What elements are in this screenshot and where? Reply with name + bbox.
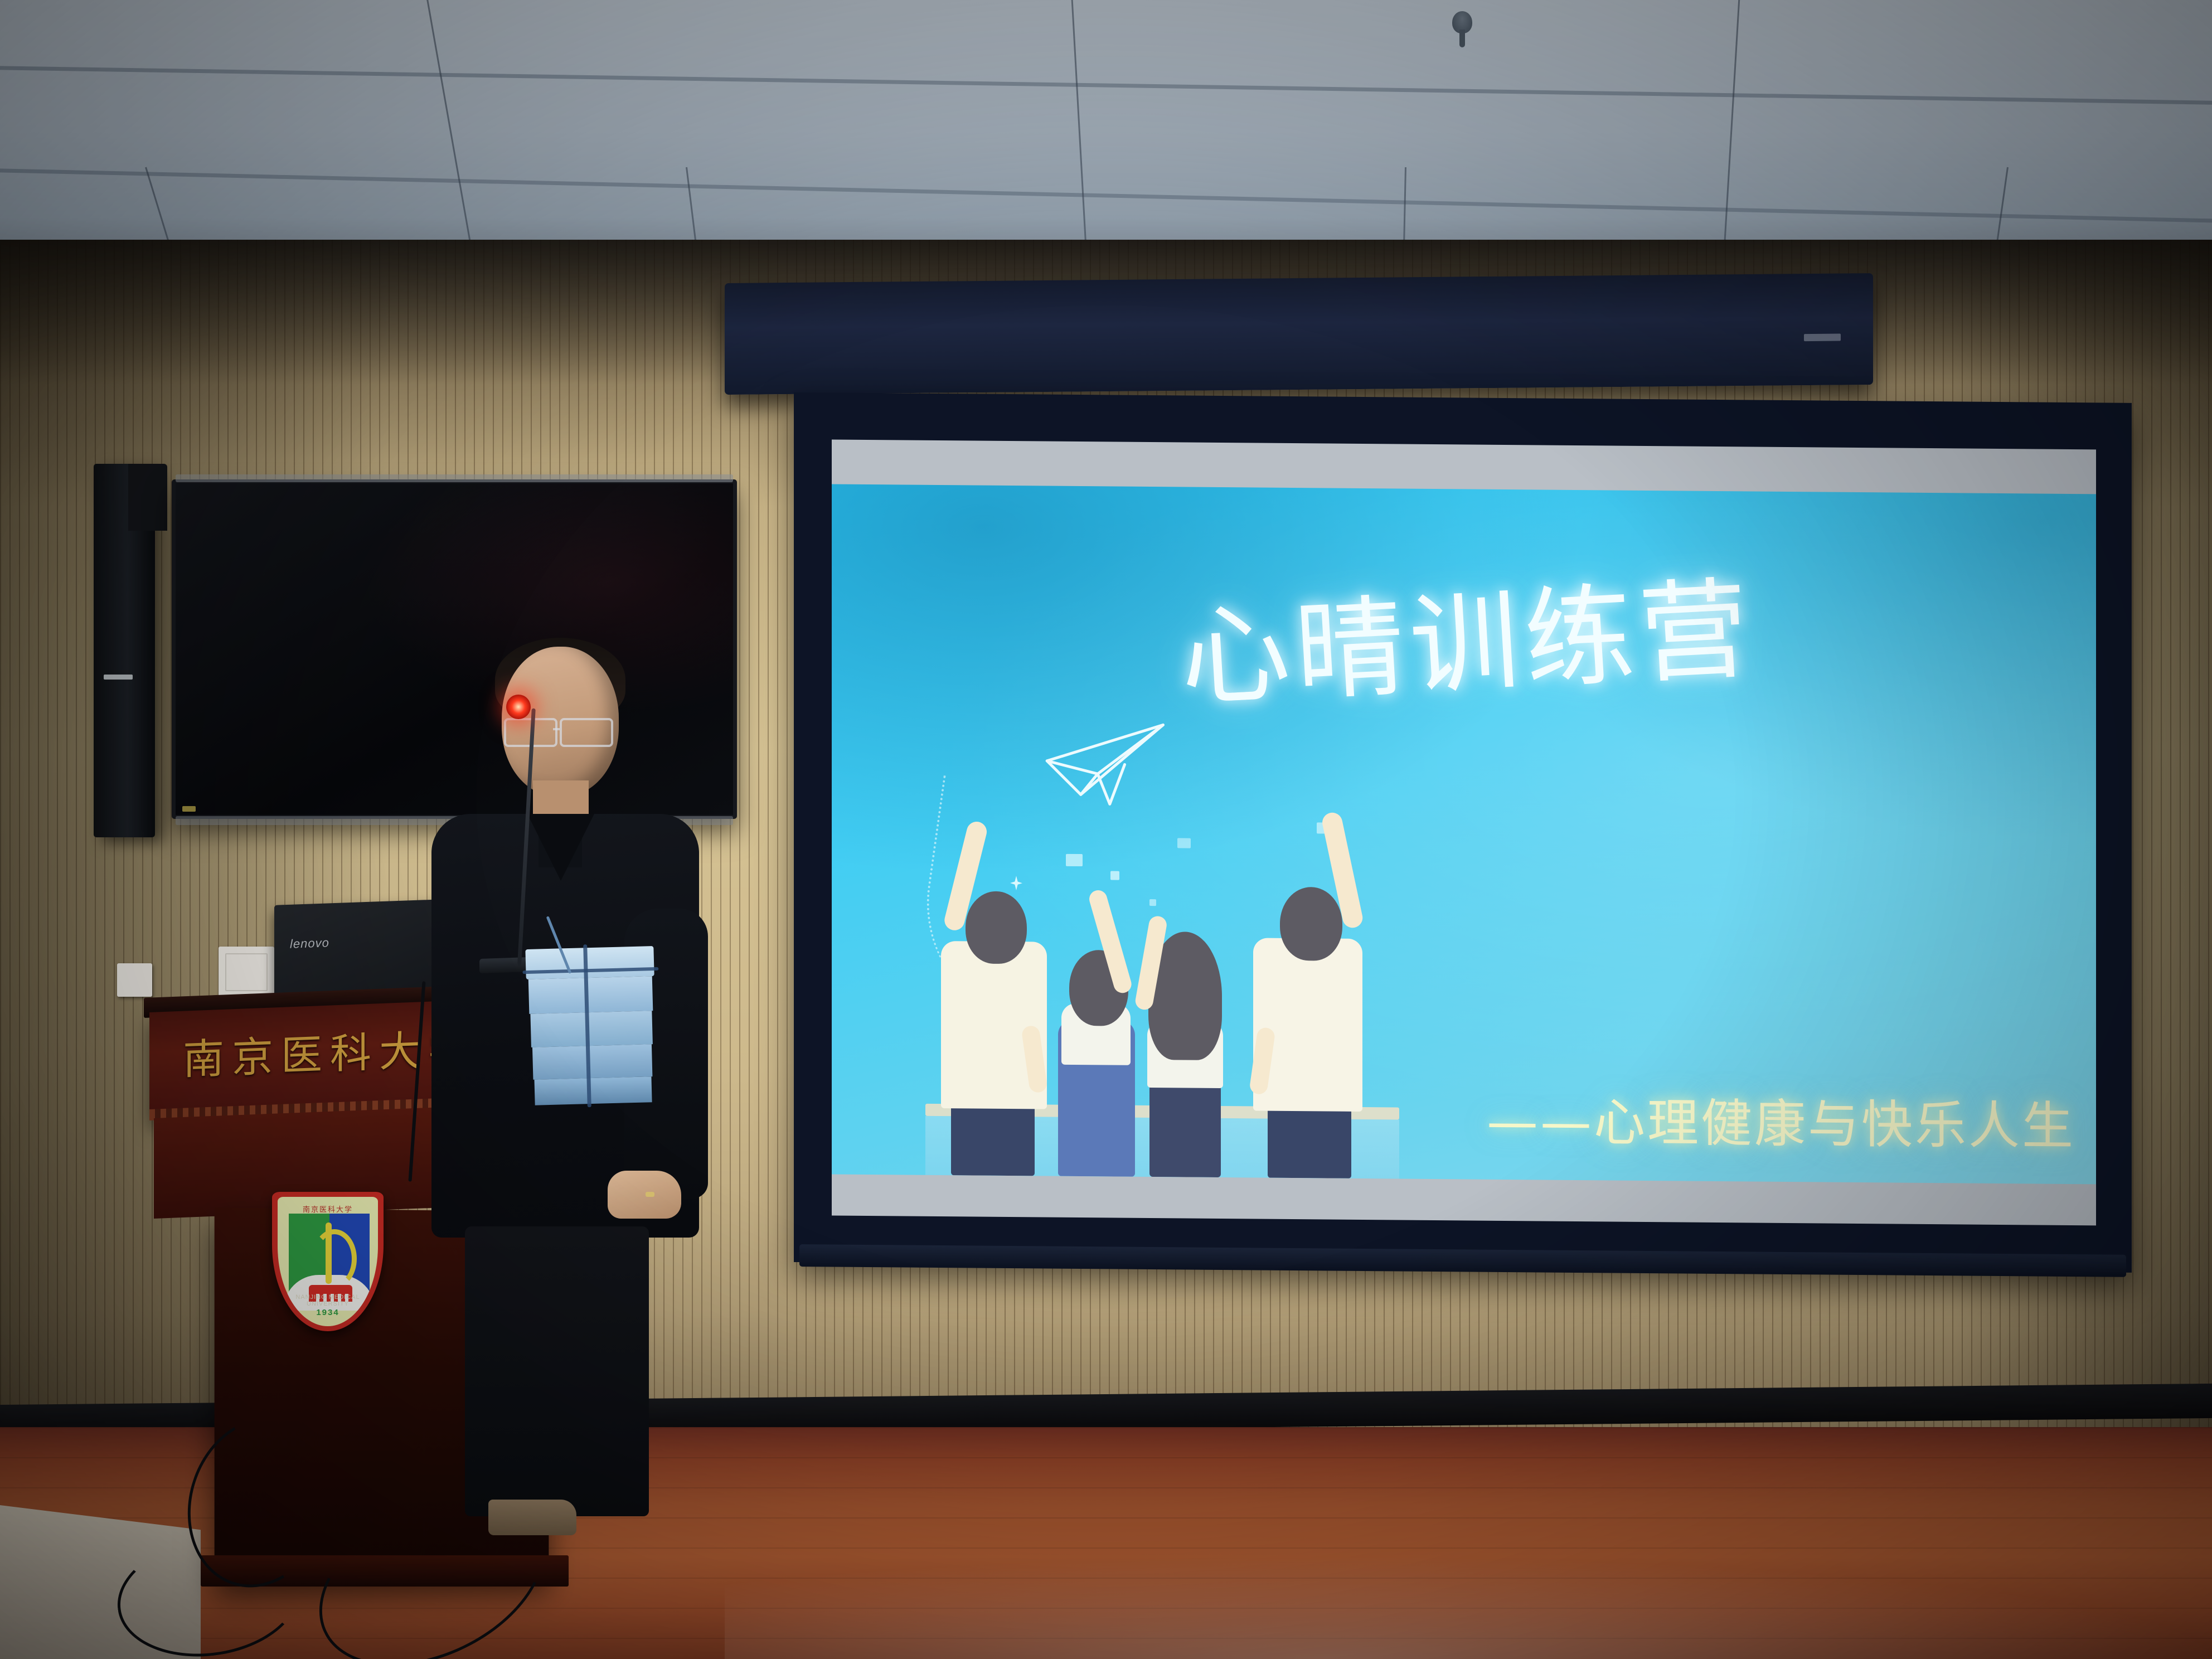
projection-screen-surface: 心晴训练营 ——心理健康与快乐人生 主讲人：王志琳 主办：学工处 承办：第一临床… [832, 440, 2096, 1226]
projection-screen-frame: 心晴训练营 ——心理健康与快乐人生 主讲人：王志琳 主办：学工处 承办：第一临床… [794, 392, 2132, 1273]
eyeglasses-right-lens [560, 718, 613, 747]
person-hand [608, 1171, 681, 1219]
person-trousers [465, 1226, 649, 1516]
floor-reflection [725, 1555, 2212, 1659]
slide-subtitle: ——心理健康与快乐人生 [1487, 1080, 2075, 1159]
laptop-brand-logo: lenovo [290, 935, 329, 951]
presentation-slide: 心晴训练营 ——心理健康与快乐人生 主讲人：王志琳 主办：学工处 承办：第一临床… [832, 484, 2096, 1185]
emblem-top-text: 南京医科大学 [278, 1204, 378, 1214]
students-cheering-illustration [915, 763, 1417, 1179]
casing-label [1804, 334, 1841, 342]
bundled-books[interactable] [525, 946, 657, 1105]
lecture-hall-photo: 心晴训练营 ——心理健康与快乐人生 主讲人：王志琳 主办：学工处 承办：第一临床… [0, 0, 2212, 1659]
emblem-year: 1934 [278, 1308, 378, 1317]
monitor-power-led [182, 806, 196, 812]
monitor-top-bezel [176, 474, 733, 482]
eyeglasses-bridge [553, 728, 560, 730]
wall-blank-plate [117, 963, 152, 997]
emblem-arc-text: NANJING MEDICAL UNIVERSITY [278, 1294, 378, 1307]
illustration-figure-4 [1239, 821, 1384, 1178]
wall-outlet-panel[interactable] [219, 947, 274, 998]
speaker-label [104, 675, 133, 680]
sprinkler-head [1452, 11, 1472, 33]
wall-speaker-column [94, 464, 155, 837]
university-emblem: 南京医科大学 NANJING MEDICAL UNIVERSITY 1934 [272, 1192, 384, 1331]
projector-screen-casing [725, 273, 1873, 395]
illustration-figure-1 [932, 829, 1066, 1176]
illustration-figure-3 [1134, 909, 1245, 1178]
person-ring [646, 1192, 654, 1197]
slide-title: 心晴训练营 [1177, 575, 1757, 714]
microphone-active-led [506, 695, 531, 719]
